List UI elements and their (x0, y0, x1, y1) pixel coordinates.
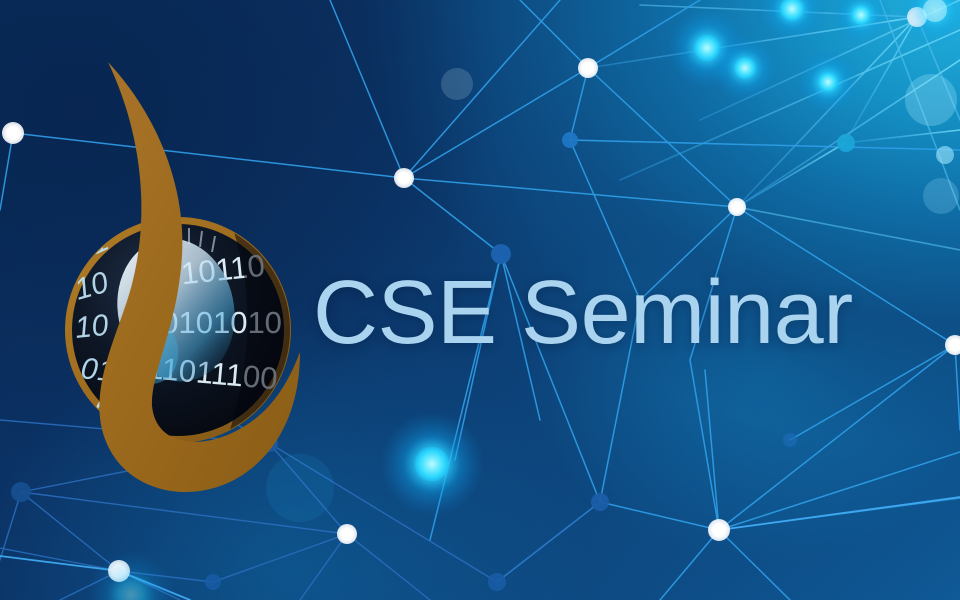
logo-layer: /1 10 10 010 010. 01010 1010110 00101010… (0, 0, 960, 600)
cse-logo: /1 10 10 010 010. 01010 1010110 00101010… (0, 0, 960, 600)
binary-text: 10 (73, 309, 110, 345)
cse-seminar-banner: /1 10 10 010 010. 01010 1010110 00101010… (0, 0, 960, 600)
